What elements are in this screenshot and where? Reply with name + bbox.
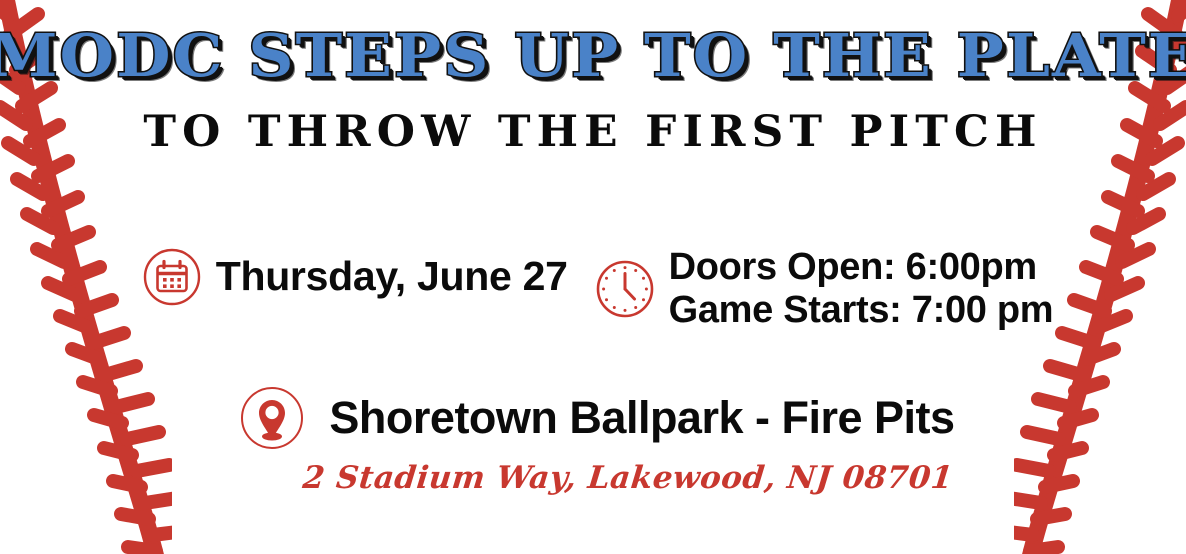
- game-starts-line: Game Starts: 7:00 pm: [669, 289, 1054, 332]
- venue-address: 2 Stadium Way, Lakewood, NJ 08701: [0, 461, 1186, 495]
- calendar-icon: [141, 246, 203, 308]
- date-time-row: Thursday, June 27: [0, 246, 1186, 331]
- event-date: Thursday, June 27: [216, 255, 568, 298]
- event-times: Doors Open: 6:00pm Game Starts: 7:00 pm: [669, 246, 1054, 331]
- map-pin-icon: [237, 383, 307, 453]
- venue-row: Shoretown Ballpark - Fire Pits: [0, 383, 1186, 453]
- date-item: Thursday, June 27: [141, 246, 568, 308]
- clock-icon: [594, 258, 656, 320]
- times-item: Doors Open: 6:00pm Game Starts: 7:00 pm: [594, 246, 1054, 331]
- flyer-title: MODC STEPS UP TO THE PLATE: [0, 26, 1186, 85]
- event-details: Thursday, June 27: [0, 246, 1186, 495]
- event-flyer: MODC STEPS UP TO THE PLATE TO THROW THE …: [0, 0, 1186, 554]
- doors-open-line: Doors Open: 6:00pm: [669, 246, 1054, 289]
- flyer-subtitle: TO THROW THE FIRST PITCH: [0, 111, 1186, 154]
- headline-block: MODC STEPS UP TO THE PLATE TO THROW THE …: [0, 26, 1186, 154]
- venue-name: Shoretown Ballpark - Fire Pits: [329, 394, 954, 441]
